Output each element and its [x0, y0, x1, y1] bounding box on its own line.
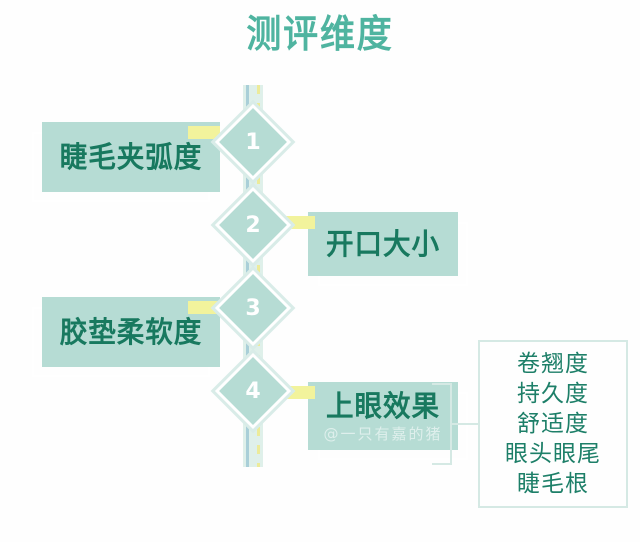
step-1-yellow-tab — [188, 126, 220, 139]
step-2-label: 开口大小 — [326, 228, 440, 260]
infographic-canvas: 测评维度 睫毛夹弧度 1 开口大小 2 胶垫柔软度 3 上眼效果 @一只有嘉的猪… — [0, 0, 640, 542]
step-4-number: 4 — [226, 364, 280, 418]
bracket-top-arm — [432, 383, 452, 385]
sub-item-list: 卷翘度 持久度 舒适度 眼头眼尾 睫毛根 — [478, 340, 628, 508]
sub-item: 卷翘度 — [517, 349, 589, 379]
step-2-number: 2 — [226, 198, 280, 252]
bracket-connector-line — [452, 423, 480, 425]
step-4-box[interactable]: 上眼效果 @一只有嘉的猪 — [308, 382, 458, 450]
step-1-label: 睫毛夹弧度 — [60, 141, 203, 173]
watermark-handle: @一只有嘉的猪 — [323, 425, 442, 443]
sub-item: 舒适度 — [517, 409, 589, 439]
step-3-label: 胶垫柔软度 — [60, 316, 203, 348]
bracket-bottom-arm — [432, 463, 452, 465]
sub-item: 睫毛根 — [517, 469, 589, 499]
sub-item: 持久度 — [517, 379, 589, 409]
sub-item: 眼头眼尾 — [505, 439, 601, 469]
step-3-number: 3 — [226, 281, 280, 335]
step-2-box[interactable]: 开口大小 — [308, 212, 458, 276]
step-4-label: 上眼效果 — [326, 390, 440, 422]
step-1-number: 1 — [226, 115, 280, 169]
page-title: 测评维度 — [26, 12, 615, 56]
